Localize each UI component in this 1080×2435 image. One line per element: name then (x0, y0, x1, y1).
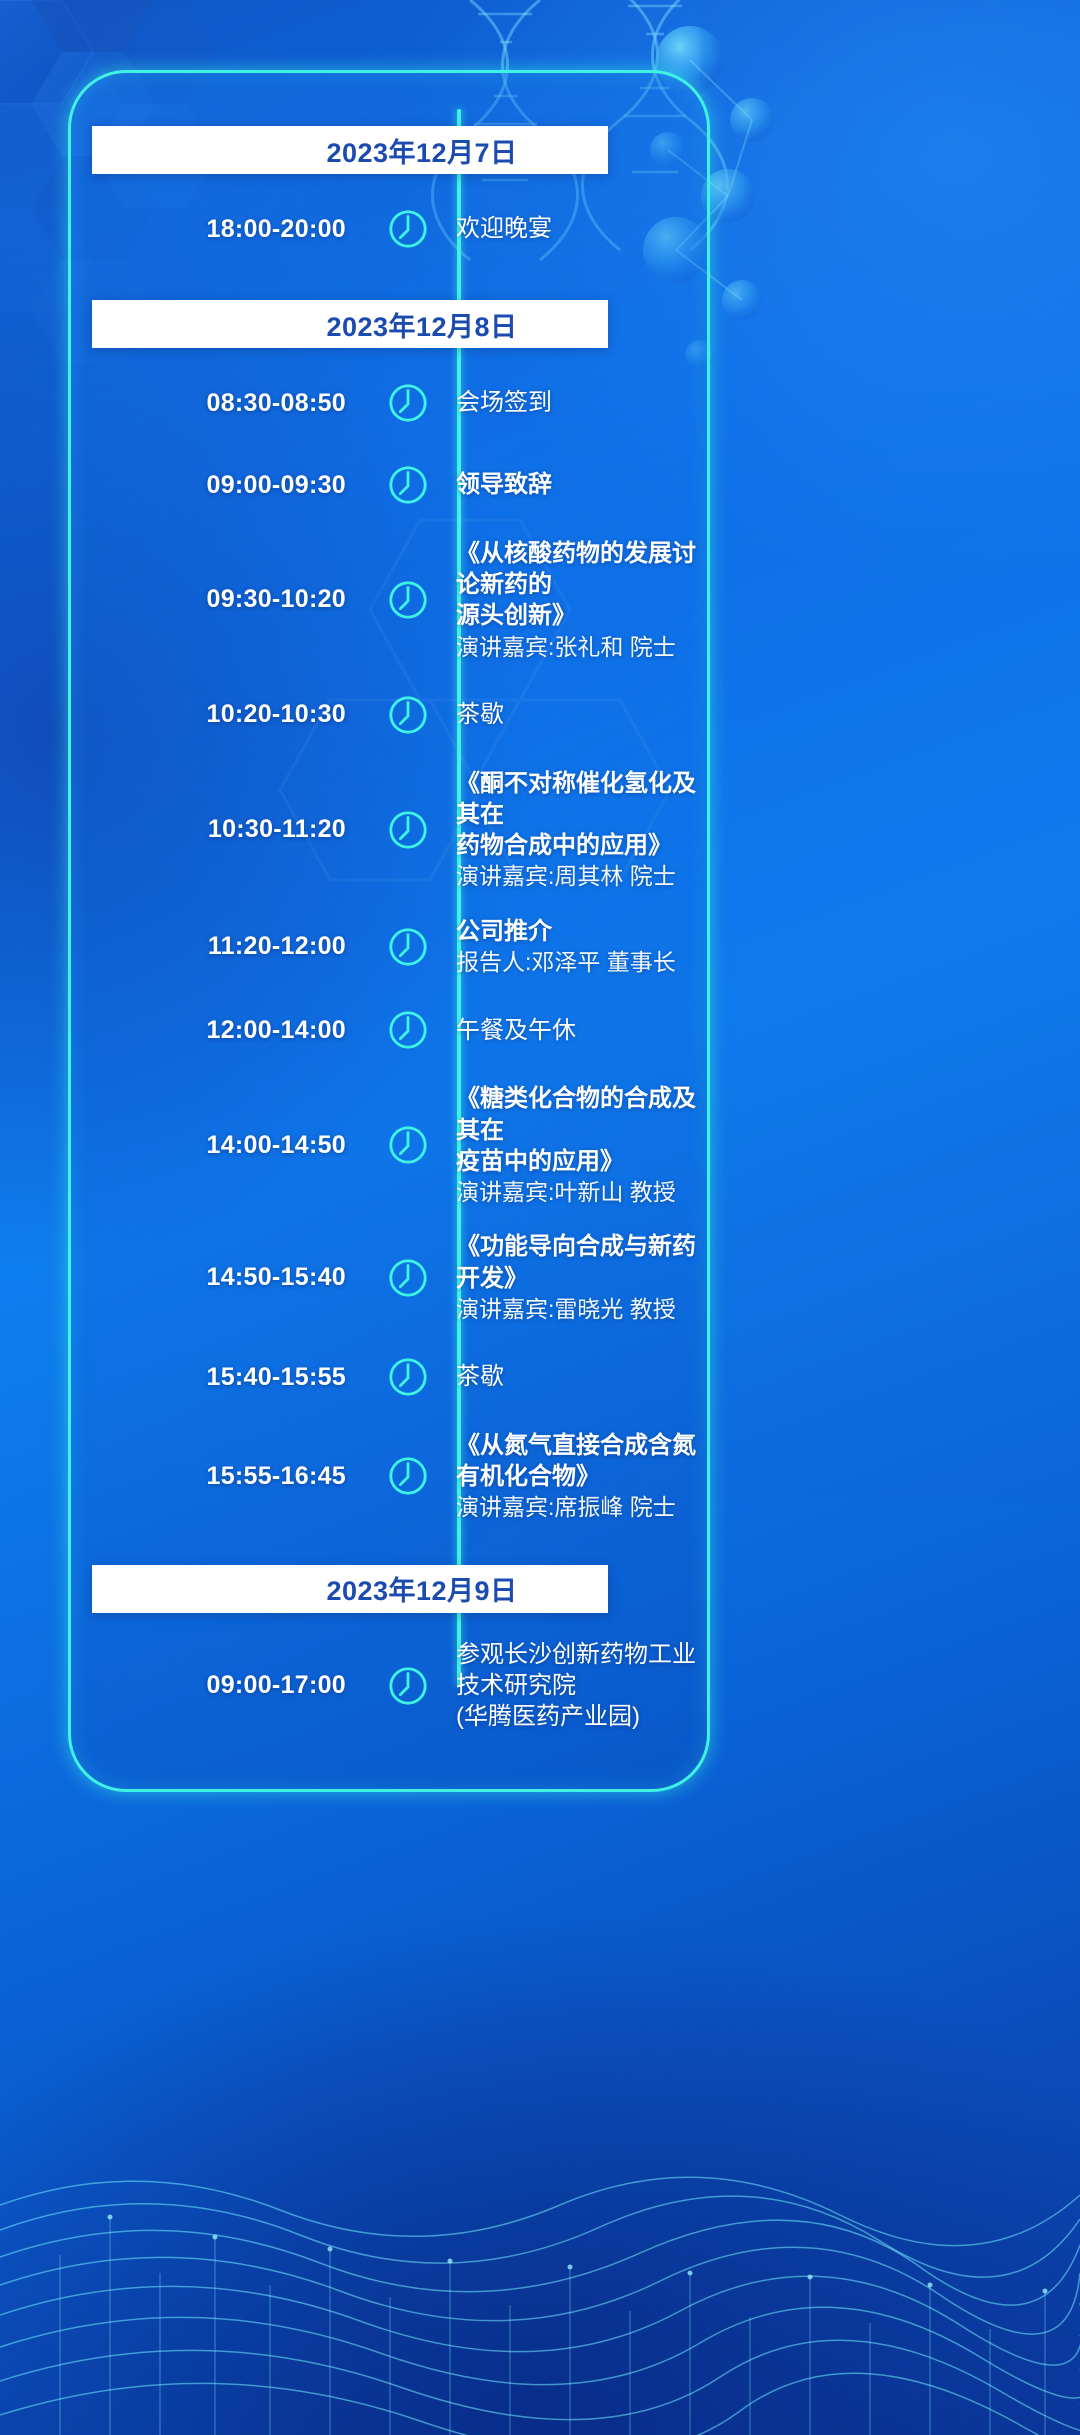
clock-icon (387, 579, 429, 621)
agenda-row: 11:20-12:00公司推介报告人:邓泽平 董事长 (68, 916, 708, 978)
clock-icon (387, 1356, 429, 1398)
agenda-detail: 领导致辞 (448, 469, 708, 500)
agenda-title: 《功能导向合成与新药开发》 (456, 1231, 708, 1293)
timeline-node (368, 694, 448, 736)
agenda-speaker: 演讲嘉宾:周其林 院士 (456, 861, 708, 891)
agenda-title: 午餐及午休 (456, 1015, 708, 1046)
agenda-time: 14:00-14:50 (68, 1131, 368, 1160)
agenda-detail: 茶歇 (448, 1361, 708, 1392)
clock-icon (387, 382, 429, 424)
timeline-node (368, 1665, 448, 1707)
wave-landscape-decoration (0, 2005, 1080, 2435)
timeline-node (368, 464, 448, 506)
clock-icon (387, 464, 429, 506)
agenda-time: 09:00-09:30 (68, 471, 368, 500)
agenda-time: 12:00-14:00 (68, 1016, 368, 1045)
timeline-node (368, 1009, 448, 1051)
agenda-title: 茶歇 (456, 699, 708, 730)
clock-icon (387, 208, 429, 250)
clock-icon (387, 926, 429, 968)
agenda-time: 09:30-10:20 (68, 585, 368, 614)
agenda-list: 2023年12月7日18:00-20:00欢迎晚宴2023年12月8日08:30… (68, 70, 708, 1732)
agenda-row: 15:55-16:45《从氮气直接合成含氮有机化合物》演讲嘉宾:席振峰 院士 (68, 1430, 708, 1523)
agenda-speaker: 演讲嘉宾:张礼和 院士 (456, 632, 708, 662)
agenda-title: 公司推介 (456, 916, 708, 947)
agenda-row: 18:00-20:00欢迎晚宴 (68, 200, 708, 258)
agenda-time: 10:30-11:20 (68, 815, 368, 844)
agenda-time: 09:00-17:00 (68, 1671, 368, 1700)
timeline-node (368, 1356, 448, 1398)
date-banner: 2023年12月9日 (92, 1565, 608, 1613)
agenda-detail: 《功能导向合成与新药开发》演讲嘉宾:雷晓光 教授 (448, 1231, 708, 1324)
clock-icon (387, 1455, 429, 1497)
agenda-time: 18:00-20:00 (68, 215, 368, 244)
agenda-speaker: 演讲嘉宾:雷晓光 教授 (456, 1294, 708, 1324)
clock-icon (387, 1124, 429, 1166)
agenda-row: 09:00-17:00参观长沙创新药物工业技术研究院(华腾医药产业园) (68, 1639, 708, 1733)
agenda-row: 14:50-15:40《功能导向合成与新药开发》演讲嘉宾:雷晓光 教授 (68, 1231, 708, 1324)
agenda-row: 14:00-14:50《糖类化合物的合成及其在疫苗中的应用》演讲嘉宾:叶新山 教… (68, 1083, 708, 1207)
timeline-node (368, 809, 448, 851)
clock-icon (387, 1665, 429, 1707)
date-banner-label: 2023年12月9日 (326, 1569, 517, 1608)
agenda-title: 《从氮气直接合成含氮有机化合物》 (456, 1430, 708, 1492)
timeline-node (368, 382, 448, 424)
agenda-row: 12:00-14:00午餐及午休 (68, 1001, 708, 1059)
timeline-node (368, 579, 448, 621)
timeline-node (368, 1257, 448, 1299)
agenda-time: 11:20-12:00 (68, 932, 368, 961)
agenda-row: 10:30-11:20《酮不对称催化氢化及其在药物合成中的应用》演讲嘉宾:周其林… (68, 768, 708, 892)
agenda-detail: 会场签到 (448, 387, 708, 418)
agenda-detail: 公司推介报告人:邓泽平 董事长 (448, 916, 708, 978)
agenda-detail: 午餐及午休 (448, 1015, 708, 1046)
clock-icon (387, 1009, 429, 1051)
date-banner: 2023年12月7日 (92, 126, 608, 174)
timeline-node (368, 926, 448, 968)
agenda-title: 欢迎晚宴 (456, 213, 708, 244)
timeline-node (368, 1124, 448, 1166)
date-banner: 2023年12月8日 (92, 300, 608, 348)
agenda-speaker: 报告人:邓泽平 董事长 (456, 947, 708, 977)
agenda-row: 09:30-10:20《从核酸药物的发展讨论新药的源头创新》演讲嘉宾:张礼和 院… (68, 538, 708, 662)
agenda-time: 10:20-10:30 (68, 700, 368, 729)
agenda-title: 会场签到 (456, 387, 708, 418)
timeline-node (368, 1455, 448, 1497)
date-banner-label: 2023年12月7日 (326, 131, 517, 170)
agenda-speaker: 演讲嘉宾:叶新山 教授 (456, 1177, 708, 1207)
agenda-time: 15:55-16:45 (68, 1462, 368, 1491)
agenda-row: 10:20-10:30茶歇 (68, 686, 708, 744)
agenda-title: 领导致辞 (456, 469, 708, 500)
conference-agenda-poster: 2023年12月7日18:00-20:00欢迎晚宴2023年12月8日08:30… (0, 0, 1080, 2435)
agenda-row: 15:40-15:55茶歇 (68, 1348, 708, 1406)
agenda-row: 08:30-08:50会场签到 (68, 374, 708, 432)
agenda-detail: 参观长沙创新药物工业技术研究院(华腾医药产业园) (448, 1639, 708, 1733)
agenda-time: 15:40-15:55 (68, 1363, 368, 1392)
clock-icon (387, 1257, 429, 1299)
agenda-detail: 《糖类化合物的合成及其在疫苗中的应用》演讲嘉宾:叶新山 教授 (448, 1083, 708, 1207)
date-banner-label: 2023年12月8日 (326, 305, 517, 344)
agenda-time: 08:30-08:50 (68, 389, 368, 418)
agenda-detail: 《从核酸药物的发展讨论新药的源头创新》演讲嘉宾:张礼和 院士 (448, 538, 708, 662)
agenda-title: 《从核酸药物的发展讨论新药的源头创新》 (456, 538, 708, 632)
agenda-detail: 欢迎晚宴 (448, 213, 708, 244)
agenda-row: 09:00-09:30领导致辞 (68, 456, 708, 514)
agenda-detail: 《酮不对称催化氢化及其在药物合成中的应用》演讲嘉宾:周其林 院士 (448, 768, 708, 892)
agenda-detail: 《从氮气直接合成含氮有机化合物》演讲嘉宾:席振峰 院士 (448, 1430, 708, 1523)
agenda-title: 《糖类化合物的合成及其在疫苗中的应用》 (456, 1083, 708, 1177)
clock-icon (387, 809, 429, 851)
clock-icon (387, 694, 429, 736)
agenda-time: 14:50-15:40 (68, 1263, 368, 1292)
agenda-title: 《酮不对称催化氢化及其在药物合成中的应用》 (456, 768, 708, 862)
agenda-speaker: 演讲嘉宾:席振峰 院士 (456, 1492, 708, 1522)
agenda-title: 参观长沙创新药物工业技术研究院(华腾医药产业园) (456, 1639, 708, 1733)
agenda-title: 茶歇 (456, 1361, 708, 1392)
timeline-node (368, 208, 448, 250)
agenda-detail: 茶歇 (448, 699, 708, 730)
